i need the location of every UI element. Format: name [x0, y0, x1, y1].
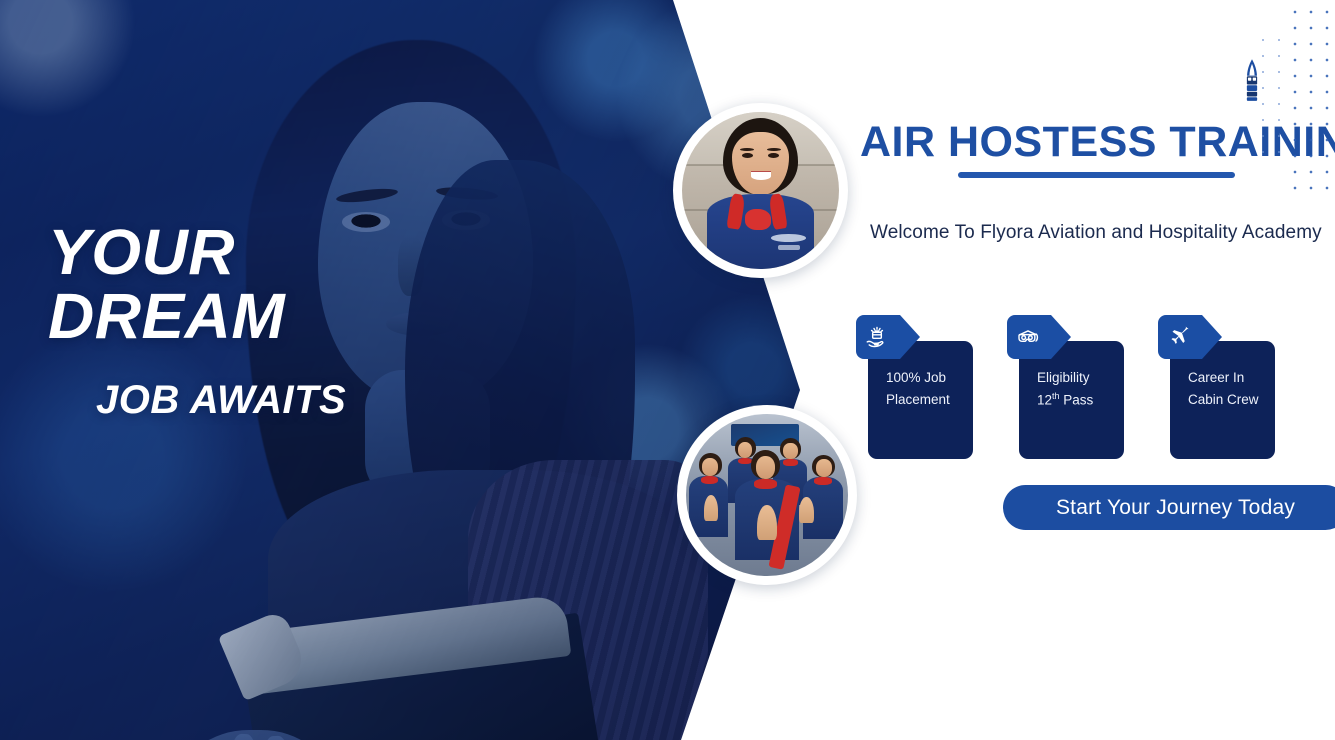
- graduation-goggles-icon: [1015, 324, 1041, 350]
- headline-line-1: YOUR: [48, 222, 346, 282]
- page-subtitle: Welcome To Flyora Aviation and Hospitali…: [870, 222, 1322, 244]
- portrait-eye-left: [742, 153, 753, 158]
- crew-face: [783, 443, 798, 459]
- hero-headline: YOUR DREAM JOB AWAITS: [48, 222, 346, 423]
- group-circle-photo: [677, 405, 857, 585]
- card-line-2: Cabin Crew: [1188, 389, 1283, 411]
- card-line-2-sup: th: [1052, 391, 1060, 401]
- card-text: 100% Job Placement: [886, 367, 981, 411]
- portrait-scarf-knot: [745, 209, 772, 229]
- hero-banner: YOUR DREAM JOB AWAITS AIR HOSTESS TRAINI…: [0, 0, 1335, 740]
- crew-scarf: [783, 459, 798, 465]
- plane-top-view-icon: [1241, 58, 1263, 110]
- crew-face: [702, 458, 718, 476]
- card-line-2-tail: Pass: [1060, 392, 1094, 407]
- card-line-2: Placement: [886, 389, 981, 411]
- airplane-icon: [1166, 324, 1192, 350]
- hand-holding-briefcase-icon: [864, 324, 890, 350]
- start-journey-button[interactable]: Start Your Journey Today: [1003, 485, 1335, 530]
- crew-namaste-hands: [757, 505, 776, 541]
- headline-line-2: DREAM: [48, 286, 346, 346]
- crew-scarf: [701, 476, 719, 484]
- group-image: [686, 414, 848, 576]
- portrait-uniform: [707, 194, 814, 269]
- card-line-2: 12th Pass: [1037, 389, 1132, 411]
- crew-face: [816, 459, 832, 477]
- dot-grid-pattern: [1287, 4, 1335, 190]
- crew-face: [756, 456, 775, 479]
- portrait-eye-right: [768, 153, 779, 158]
- crew-face: [738, 442, 753, 458]
- card-text: Career In Cabin Crew: [1188, 367, 1283, 411]
- card-line-1: 100% Job: [886, 367, 981, 389]
- card-text: Eligibility 12th Pass: [1037, 367, 1132, 411]
- card-line-1: Career In: [1188, 367, 1283, 389]
- portrait-image: [682, 112, 839, 269]
- title-underline: [958, 172, 1235, 178]
- card-line-2-number: 12: [1037, 392, 1052, 407]
- portrait-name-badge: [778, 245, 800, 250]
- portrait-smile: [751, 172, 771, 180]
- crew-scarf: [754, 479, 777, 489]
- headline-line-3: JOB AWAITS: [96, 378, 346, 423]
- portrait-circle-photo: [673, 103, 848, 278]
- card-line-1: Eligibility: [1037, 367, 1132, 389]
- crew-scarf: [814, 477, 832, 485]
- content-panel: AIR HOSTESS TRAINING Welcome To Flyora A…: [810, 0, 1335, 740]
